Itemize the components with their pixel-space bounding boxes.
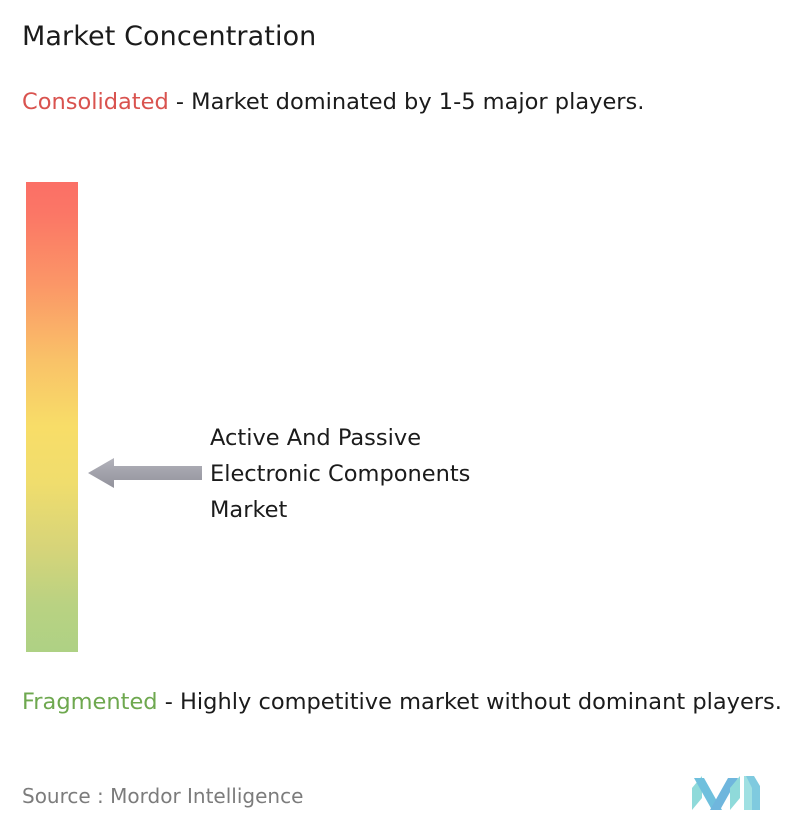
legend-fragmented: Fragmented - Highly competitive market w… bbox=[22, 686, 782, 718]
pointer-arrow-icon bbox=[88, 455, 202, 491]
pointer-label: Active And Passive Electronic Components… bbox=[210, 420, 630, 528]
legend-keyword-consolidated: Consolidated bbox=[22, 89, 169, 115]
mordor-intelligence-logo-icon bbox=[690, 772, 762, 814]
market-concentration-chart: Market Concentration Consolidated - Mark… bbox=[0, 0, 796, 834]
concentration-scale-bar bbox=[26, 182, 78, 652]
pointer-label-line-1: Active And Passive bbox=[210, 420, 630, 456]
legend-consolidated: Consolidated - Market dominated by 1-5 m… bbox=[22, 86, 774, 118]
page-title: Market Concentration bbox=[22, 20, 316, 54]
pointer-label-line-2: Electronic Components bbox=[210, 456, 630, 492]
legend-description-fragmented: - Highly competitive market without domi… bbox=[158, 689, 782, 715]
legend-keyword-fragmented: Fragmented bbox=[22, 689, 158, 715]
source-attribution: Source : Mordor Intelligence bbox=[22, 782, 303, 810]
legend-description-consolidated: - Market dominated by 1-5 major players. bbox=[169, 89, 645, 115]
pointer-label-line-3: Market bbox=[210, 492, 630, 528]
